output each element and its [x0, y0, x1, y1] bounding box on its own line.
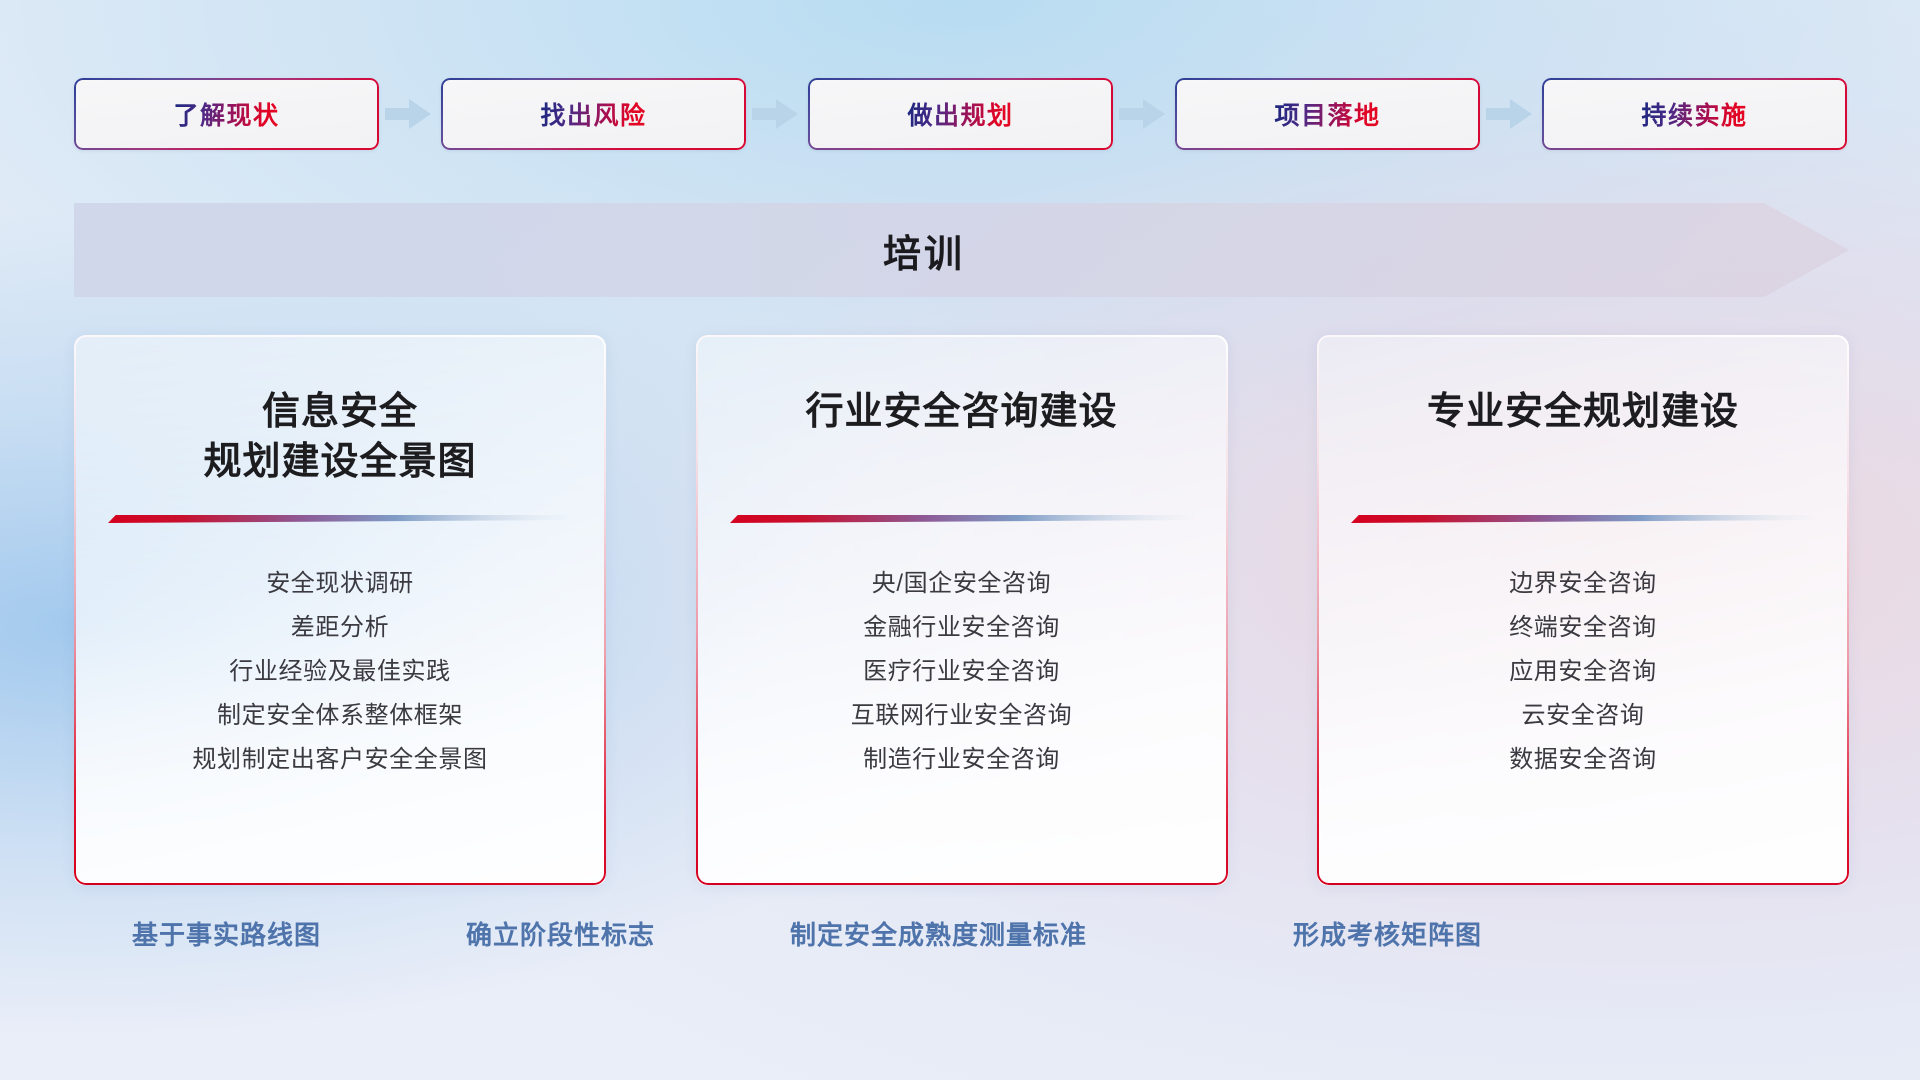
flow-step-label: 持续实施 [1641, 96, 1747, 132]
card-item: 医疗行业安全咨询 [722, 650, 1202, 694]
card-item: 行业经验及最佳实践 [100, 650, 580, 694]
card-item: 央/国企安全咨询 [722, 562, 1202, 606]
card-3[interactable]: 专业安全规划建设 [1317, 335, 1849, 885]
card-item: 终端安全咨询 [1343, 606, 1823, 650]
card-title: 专业安全规划建设 [1343, 387, 1823, 491]
right-arrow-icon [1113, 96, 1175, 132]
card-title: 信息安全 规划建设全景图 [100, 387, 580, 491]
card-item: 差距分析 [100, 606, 580, 650]
footer-label-4: 形成考核矩阵图 [1293, 915, 1482, 952]
right-arrow-icon [1480, 96, 1542, 132]
footer-label-2: 确立阶段性标志 [466, 915, 655, 952]
flow-step-3[interactable]: 做出规划 [808, 78, 1113, 150]
card-item: 安全现状调研 [100, 562, 580, 606]
card-divider [730, 513, 1194, 524]
flow-step-1[interactable]: 了解现状 [74, 78, 379, 150]
footer-label-1: 基于事实路线图 [132, 915, 321, 952]
card-item-list: 央/国企安全咨询 金融行业安全咨询 医疗行业安全咨询 互联网行业安全咨询 制造行… [722, 562, 1202, 782]
card-item: 制造行业安全咨询 [722, 738, 1202, 782]
flow-step-4[interactable]: 项目落地 [1175, 78, 1480, 150]
card-item: 边界安全咨询 [1343, 562, 1823, 606]
card-divider [1351, 513, 1815, 524]
card-item-list: 边界安全咨询 终端安全咨询 应用安全咨询 云安全咨询 数据安全咨询 [1343, 562, 1823, 782]
card-title: 行业安全咨询建设 [722, 387, 1202, 491]
card-item-list: 安全现状调研 差距分析 行业经验及最佳实践 制定安全体系整体框架 规划制定出客户… [100, 562, 580, 782]
card-item: 数据安全咨询 [1343, 738, 1823, 782]
footer-label-3: 制定安全成熟度测量标准 [790, 915, 1087, 952]
card-divider [108, 513, 572, 524]
card-1[interactable]: 信息安全 规划建设全景图 [74, 335, 606, 885]
training-banner: 培训 [74, 203, 1849, 297]
flow-step-2[interactable]: 找出风险 [441, 78, 746, 150]
card-item: 云安全咨询 [1343, 694, 1823, 738]
process-flow-bar: 了解现状 找出风险 做出规划 项目落地 持续实施 [74, 78, 1849, 150]
footer-label-row: 基于事实路线图 确立阶段性标志 制定安全成熟度测量标准 形成考核矩阵图 [0, 915, 1920, 959]
card-row: 信息安全 规划建设全景图 [74, 335, 1849, 885]
card-item: 互联网行业安全咨询 [722, 694, 1202, 738]
flow-step-label: 做出规划 [907, 96, 1013, 132]
right-arrow-icon [379, 96, 441, 132]
flow-step-label: 了解现状 [173, 96, 279, 132]
card-item: 金融行业安全咨询 [722, 606, 1202, 650]
flow-step-5[interactable]: 持续实施 [1542, 78, 1847, 150]
card-item: 制定安全体系整体框架 [100, 694, 580, 738]
card-2[interactable]: 行业安全咨询建设 [696, 335, 1228, 885]
flow-step-label: 项目落地 [1274, 96, 1380, 132]
card-item: 规划制定出客户安全全景图 [100, 738, 580, 782]
flow-step-label: 找出风险 [540, 96, 646, 132]
right-arrow-icon [746, 96, 808, 132]
card-item: 应用安全咨询 [1343, 650, 1823, 694]
training-label: 培训 [74, 203, 1774, 297]
